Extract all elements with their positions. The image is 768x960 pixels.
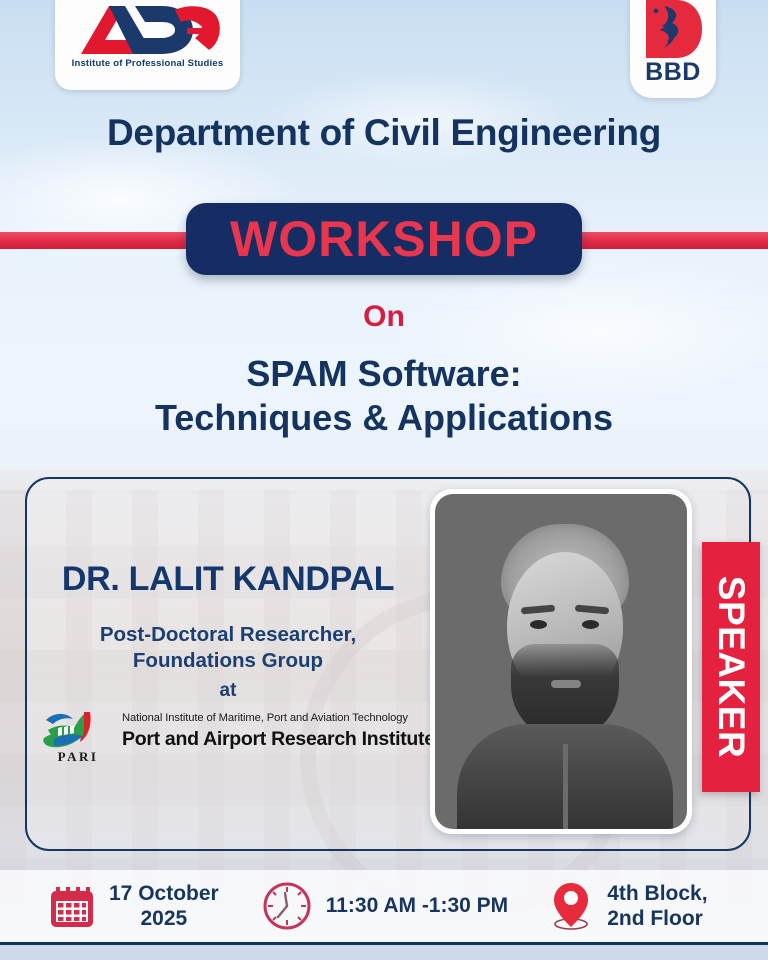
speaker-role-line-1: Post-Doctoral Researcher, xyxy=(28,622,428,648)
adg-subtitle: Institute of Professional Studies xyxy=(55,58,240,69)
event-venue-line-2: 2nd Floor xyxy=(607,906,707,931)
speaker-portrait xyxy=(435,494,687,829)
event-venue-line-1: 4th Block, xyxy=(607,881,707,906)
workshop-badge: WORKSHOP xyxy=(186,203,582,275)
speaker-role-line-2: Foundations Group xyxy=(28,648,428,674)
speaker-organization: PARI National Institute of Maritime, Por… xyxy=(40,706,440,766)
event-date: 17 October 2025 xyxy=(48,881,219,931)
topic-line-2: Techniques & Applications xyxy=(0,396,768,440)
organization-line-1: National Institute of Maritime, Port and… xyxy=(122,712,452,724)
portrait-zipper xyxy=(563,744,568,829)
event-date-line-1: 17 October xyxy=(109,881,219,906)
svg-text:PARI: PARI xyxy=(58,749,99,764)
topic-title: SPAM Software: Techniques & Applications xyxy=(0,352,768,440)
speaker-name: DR. LALIT KANDPAL xyxy=(28,560,428,599)
speaker-ribbon: SPEAKER xyxy=(702,542,760,792)
pari-logo-icon: PARI xyxy=(40,708,116,764)
organization-line-2: Port and Airport Research Institute xyxy=(122,728,462,751)
speaker-photo-frame xyxy=(430,489,692,834)
portrait-eye-left xyxy=(530,620,547,629)
event-date-line-2: 2025 xyxy=(109,906,219,931)
on-label: On xyxy=(0,300,768,334)
bbd-logo-text: BBD xyxy=(630,58,716,87)
speaker-role: Post-Doctoral Researcher, Foundations Gr… xyxy=(28,622,428,674)
adg-logo: Institute of Professional Studies xyxy=(55,0,240,90)
bbd-logo: BBD xyxy=(630,0,716,98)
speaker-ribbon-label: SPEAKER xyxy=(710,576,752,758)
workshop-label: WORKSHOP xyxy=(230,214,538,264)
event-date-text: 17 October 2025 xyxy=(109,881,219,931)
calendar-icon xyxy=(48,881,96,931)
event-venue-text: 4th Block, 2nd Floor xyxy=(607,881,707,931)
portrait-eye-right xyxy=(582,620,599,629)
topic-line-1: SPAM Software: xyxy=(0,352,768,396)
speaker-at-label: at xyxy=(28,680,428,702)
event-time: 11:30 AM -1:30 PM xyxy=(261,880,508,932)
event-time-text: 11:30 AM -1:30 PM xyxy=(326,893,508,918)
adg-mark-icon xyxy=(75,2,223,56)
event-venue: 4th Block, 2nd Floor xyxy=(548,880,707,932)
department-title: Department of Civil Engineering xyxy=(0,112,768,154)
event-details-bar: 17 October 2025 11:30 AM -1:30 PM xyxy=(0,870,768,945)
bbd-mark-icon xyxy=(642,0,704,60)
map-pin-icon xyxy=(548,880,594,932)
workshop-poster: Institute of Professional Studies BBD De… xyxy=(0,0,768,960)
clock-icon xyxy=(261,880,313,932)
portrait-mouth xyxy=(551,680,581,688)
